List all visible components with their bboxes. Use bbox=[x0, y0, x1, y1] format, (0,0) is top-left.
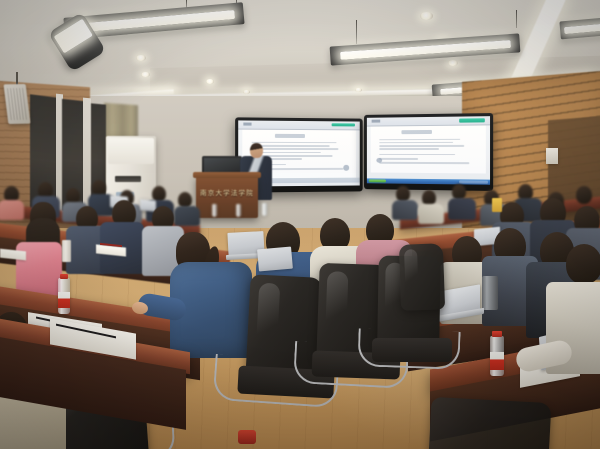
laptop bbox=[257, 247, 293, 272]
bottle-label bbox=[58, 292, 70, 308]
fixture-hanger-wire bbox=[356, 20, 357, 44]
bottle-label bbox=[490, 352, 504, 370]
office-chair bbox=[399, 243, 445, 310]
lecture-room-photo: 南京大学法学院 bbox=[0, 0, 600, 449]
bottled-water bbox=[58, 278, 70, 314]
recessed-downlight bbox=[448, 60, 458, 66]
fixture-hanger-wire bbox=[516, 10, 517, 28]
recessed-downlight bbox=[136, 55, 146, 61]
thermos bbox=[482, 276, 498, 310]
attendee-torso bbox=[0, 200, 24, 220]
bottled-water bbox=[236, 204, 241, 217]
attendee-torso bbox=[418, 204, 444, 224]
bottled-water bbox=[262, 203, 267, 216]
red-object bbox=[238, 430, 256, 444]
screen-taskbar bbox=[367, 178, 490, 185]
wall-speaker-icon bbox=[4, 84, 31, 124]
presenter-head bbox=[250, 143, 263, 158]
bottle-cap bbox=[60, 274, 68, 279]
wall-frame bbox=[546, 148, 558, 164]
recessed-downlight bbox=[206, 79, 214, 84]
bottled-water bbox=[490, 336, 504, 376]
bottled-water bbox=[212, 204, 217, 217]
snack-item bbox=[492, 198, 502, 212]
podium-inscription: 南京大学法学院 bbox=[196, 187, 258, 197]
podium: 南京大学法学院 bbox=[196, 176, 258, 218]
attendee-torso bbox=[174, 206, 200, 226]
paper-cup bbox=[62, 240, 71, 262]
right-display[interactable] bbox=[364, 113, 493, 191]
office-chair bbox=[429, 397, 552, 449]
bottle-cap bbox=[492, 331, 502, 337]
attendee-torso bbox=[448, 198, 476, 220]
recessed-downlight bbox=[420, 12, 433, 20]
attendee-head bbox=[576, 186, 592, 204]
office-chair-frame bbox=[357, 328, 460, 370]
recessed-downlight bbox=[141, 72, 150, 77]
attendee-head bbox=[566, 244, 600, 284]
attendee-torso bbox=[392, 200, 418, 220]
